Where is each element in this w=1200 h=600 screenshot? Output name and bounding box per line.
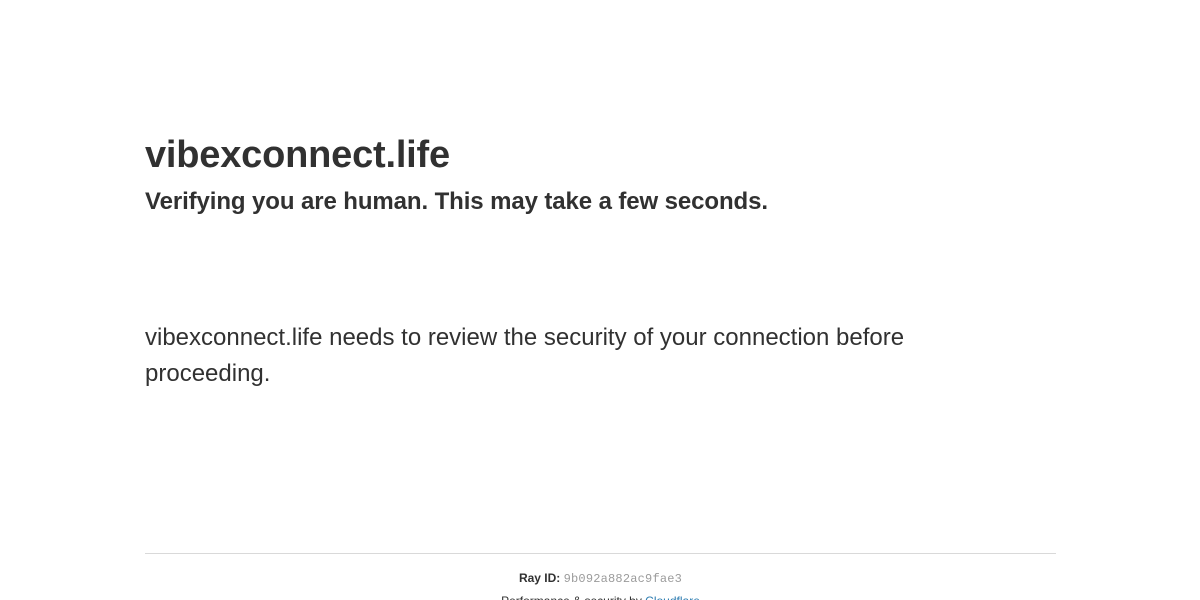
ray-id-row: Ray ID: 9b092a882ac9fae3 bbox=[145, 570, 1056, 588]
challenge-description: vibexconnect.life needs to review the se… bbox=[145, 320, 945, 392]
page-footer: Ray ID: 9b092a882ac9fae3 Performance & s… bbox=[145, 553, 1056, 600]
ray-id-value: 9b092a882ac9fae3 bbox=[564, 572, 682, 586]
challenge-body: vibexconnect.life needs to review the se… bbox=[145, 320, 945, 392]
content-wrapper: vibexconnect.life Verifying you are huma… bbox=[145, 0, 1056, 600]
ray-id-label: Ray ID: bbox=[519, 571, 560, 585]
attribution-text: Performance & security by bbox=[501, 594, 645, 600]
turnstile-widget-container[interactable] bbox=[145, 236, 445, 306]
challenge-header: vibexconnect.life Verifying you are huma… bbox=[145, 132, 1056, 218]
page-title: vibexconnect.life bbox=[145, 132, 1056, 178]
challenge-page: vibexconnect.life Verifying you are huma… bbox=[0, 0, 1200, 600]
cloudflare-link[interactable]: Cloudflare bbox=[645, 594, 700, 600]
attribution-row: Performance & security by Cloudflare bbox=[145, 588, 1056, 600]
challenge-status-text: Verifying you are human. This may take a… bbox=[145, 178, 1056, 218]
